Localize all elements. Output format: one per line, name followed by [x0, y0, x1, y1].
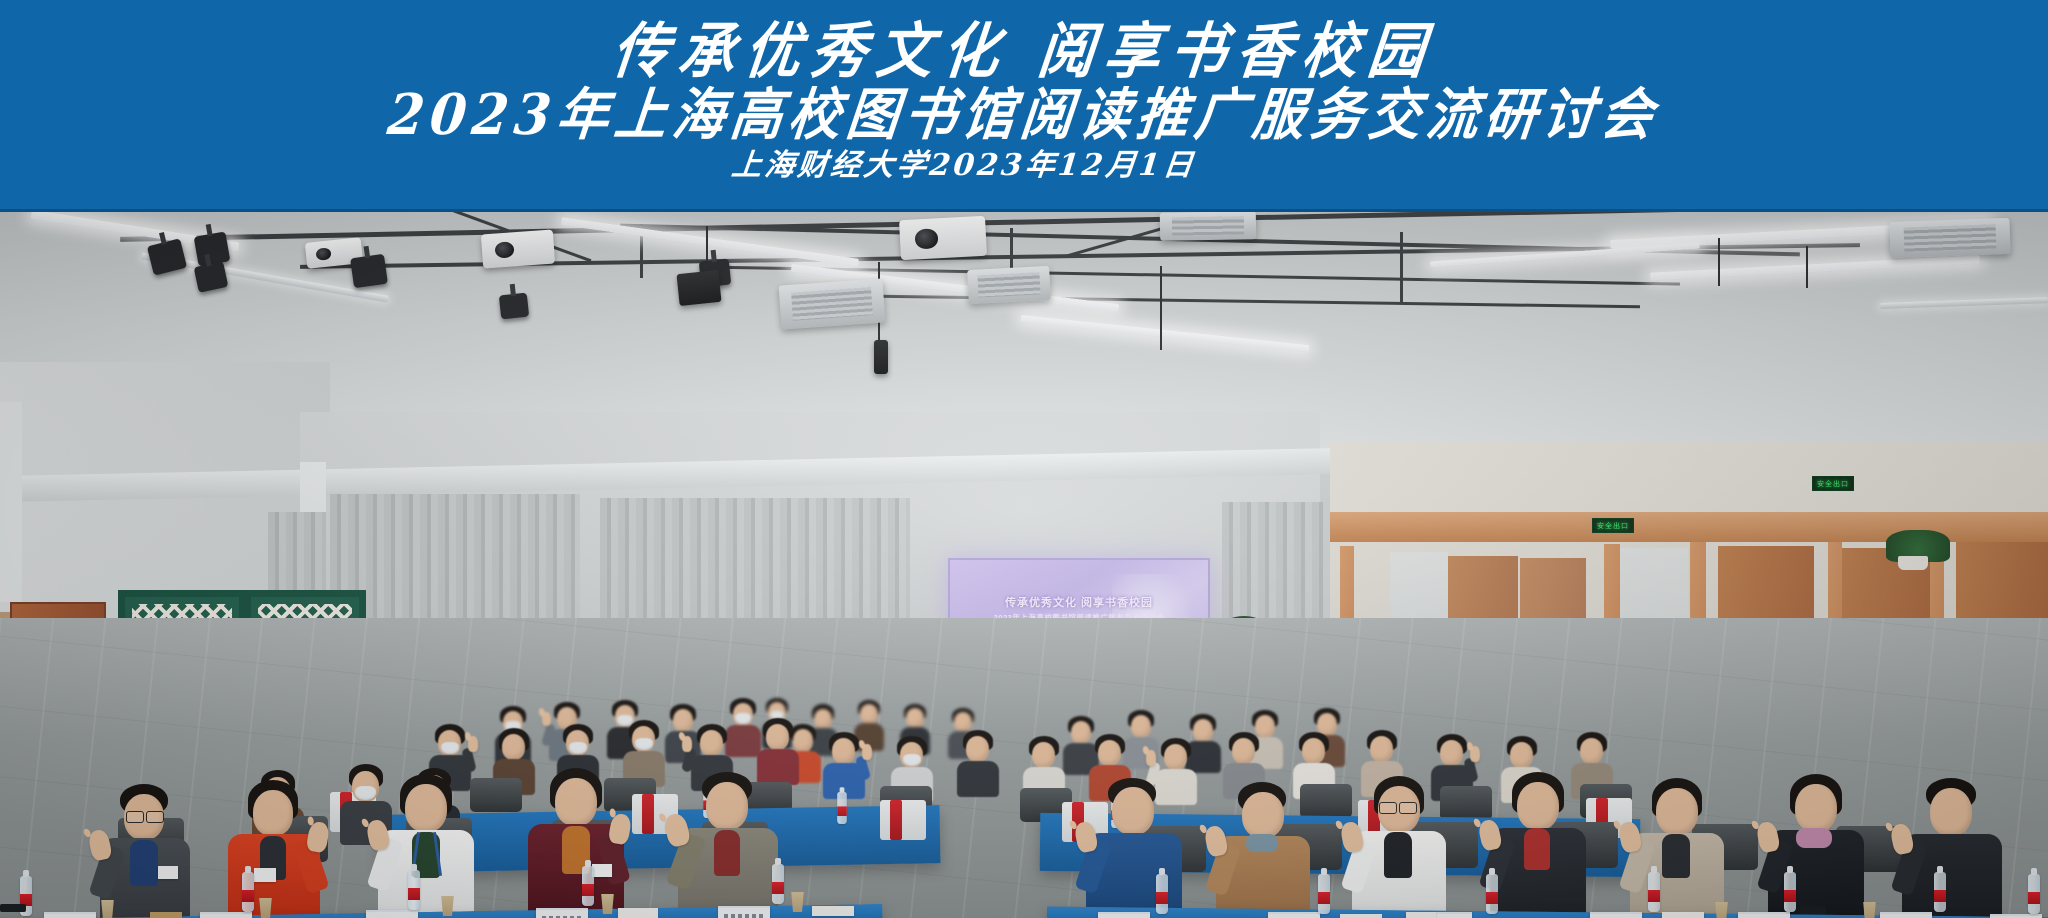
event-banner: 传承优秀文化 阅享书香校园 2023年上海高校图书馆阅读推广服务交流研讨会 上海… — [0, 0, 2048, 212]
face — [1112, 787, 1154, 835]
stage-spotlight — [499, 293, 529, 320]
name-card — [1268, 912, 1320, 918]
water-bottle — [2028, 874, 2040, 914]
air-conditioner — [1160, 212, 1256, 241]
front-row-person — [1768, 774, 1864, 918]
air-conditioner — [779, 278, 886, 329]
chair-sash — [890, 800, 902, 840]
front-row-person — [1216, 782, 1310, 918]
stage-spotlight — [350, 254, 388, 288]
inner-shirt — [714, 830, 740, 876]
water-bottle — [242, 872, 254, 912]
venue-photo: 安全出口 安全出口 传承优秀文化 阅享书香校园 2023年上海高校图书馆阅读推广… — [0, 212, 2048, 918]
hanging-wire — [1806, 246, 1808, 288]
notepad — [618, 908, 658, 918]
banner-subtitle-line3: 上海财经大学2023年12月1日 — [0, 140, 2048, 184]
face — [1242, 792, 1284, 838]
front-row-person — [1352, 776, 1446, 918]
stage-spotlight — [194, 231, 231, 266]
name-card — [1990, 914, 2042, 918]
face — [706, 782, 748, 830]
exit-sign — [1600, 520, 1602, 522]
front-row-person — [378, 774, 474, 918]
front-row-person — [1490, 772, 1586, 918]
inner-shirt — [1524, 828, 1550, 870]
face — [1656, 788, 1698, 835]
water-bottle — [1648, 872, 1660, 912]
inner-shirt — [130, 840, 158, 886]
name-card — [44, 912, 96, 918]
scarf — [1796, 828, 1832, 848]
face — [555, 778, 597, 826]
conference-group-photo: 传承优秀文化 阅享书香校园 2023年上海高校图书馆阅读推广服务交流研讨会 上海… — [0, 0, 2048, 918]
name-badge — [592, 864, 612, 877]
inner-shirt — [1662, 834, 1690, 878]
ceiling-truss-vertical — [1400, 232, 1403, 302]
name-badge — [158, 866, 178, 879]
glasses — [146, 811, 164, 823]
water-bottle — [408, 870, 420, 910]
mobile-phone — [0, 904, 26, 912]
structural-column — [0, 402, 22, 602]
front-row-person — [100, 784, 190, 918]
name-card — [1738, 912, 1790, 918]
front-row-person — [678, 772, 778, 918]
chair-back — [1440, 786, 1492, 820]
plant-pot — [1898, 556, 1928, 570]
exit-sign-label: 安全出口 — [1597, 521, 1629, 531]
water-bottle — [1934, 872, 1946, 912]
name-card — [1098, 912, 1150, 918]
water-bottle — [582, 866, 594, 906]
name-card — [1590, 912, 1642, 918]
projector — [481, 230, 555, 269]
front-row-person — [1902, 778, 2002, 918]
chair-back — [470, 778, 522, 812]
face — [1930, 788, 1972, 836]
glasses — [1399, 802, 1417, 814]
chair-cover — [880, 800, 926, 840]
water-bottle — [772, 864, 784, 904]
face — [1517, 782, 1559, 830]
water-bottle — [1486, 874, 1498, 914]
face — [1795, 784, 1837, 832]
notepad — [1662, 912, 1704, 918]
air-conditioner — [1889, 218, 2010, 258]
glasses — [126, 811, 144, 823]
air-conditioner — [967, 266, 1051, 304]
audience-person — [956, 730, 1000, 796]
notepad — [1406, 912, 1436, 918]
mobile-phone — [1800, 906, 1826, 914]
face — [253, 790, 293, 836]
notepad — [1340, 914, 1382, 918]
name-card — [366, 910, 418, 918]
audience-person — [622, 720, 666, 786]
front-row-person — [1630, 778, 1724, 918]
name-card — [1880, 912, 1932, 918]
ceiling-speaker — [874, 340, 888, 374]
glasses — [1379, 802, 1397, 814]
hanging-wire — [1160, 266, 1162, 350]
name-card — [200, 912, 252, 918]
chair-sash — [642, 794, 654, 834]
face — [405, 784, 447, 832]
hanging-wire — [1718, 238, 1720, 286]
notepad — [150, 912, 182, 918]
exit-sign: 安全出口 — [1592, 518, 1634, 533]
name-card — [536, 908, 588, 918]
scarf — [1246, 834, 1278, 852]
ceiling-speaker — [676, 270, 721, 306]
water-bottle — [1318, 874, 1330, 914]
exit-sign: 安全出口 — [1812, 476, 1854, 491]
name-badge — [254, 868, 276, 882]
projector — [899, 216, 987, 260]
projection-title: 传承优秀文化 阅享书香校园 — [950, 594, 1208, 610]
banner-title-line2: 2023年上海高校图书馆阅读推广服务交流研讨会 — [0, 69, 2048, 150]
water-bottle — [837, 792, 847, 824]
exit-sign-label: 安全出口 — [1817, 479, 1849, 489]
inner-shirt — [1384, 832, 1412, 878]
water-bottle — [1784, 872, 1796, 912]
water-bottle — [1156, 874, 1168, 914]
name-card — [718, 906, 770, 918]
notepad — [812, 906, 854, 916]
